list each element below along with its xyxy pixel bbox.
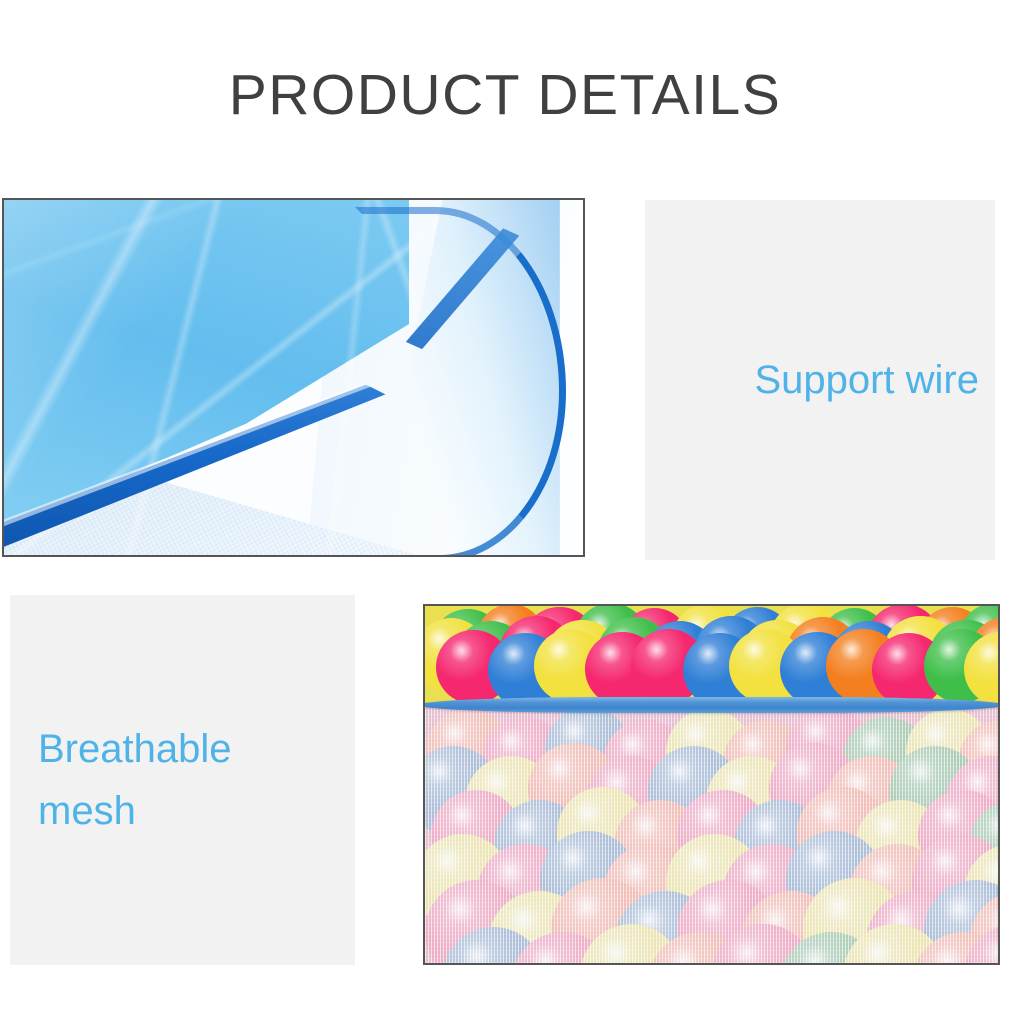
ballpit-photo-canvas [425,606,998,963]
ballpit-mesh-balls [425,704,998,963]
panel-breathable-mesh: Breathable mesh [10,595,355,965]
caption-support-wire: Support wire [754,349,979,411]
panel-support-wire: Support wire [645,200,995,560]
ballpit-bright-balls [425,606,998,704]
page-title: PRODUCT DETAILS [0,64,1010,127]
ballpit-blue-rim [425,697,998,713]
caption-breathable-mesh: Breathable mesh [38,718,231,842]
tent-photo-canvas [4,200,583,555]
photo-tent-fabric [2,198,585,557]
photo-ball-pit [423,604,1000,965]
